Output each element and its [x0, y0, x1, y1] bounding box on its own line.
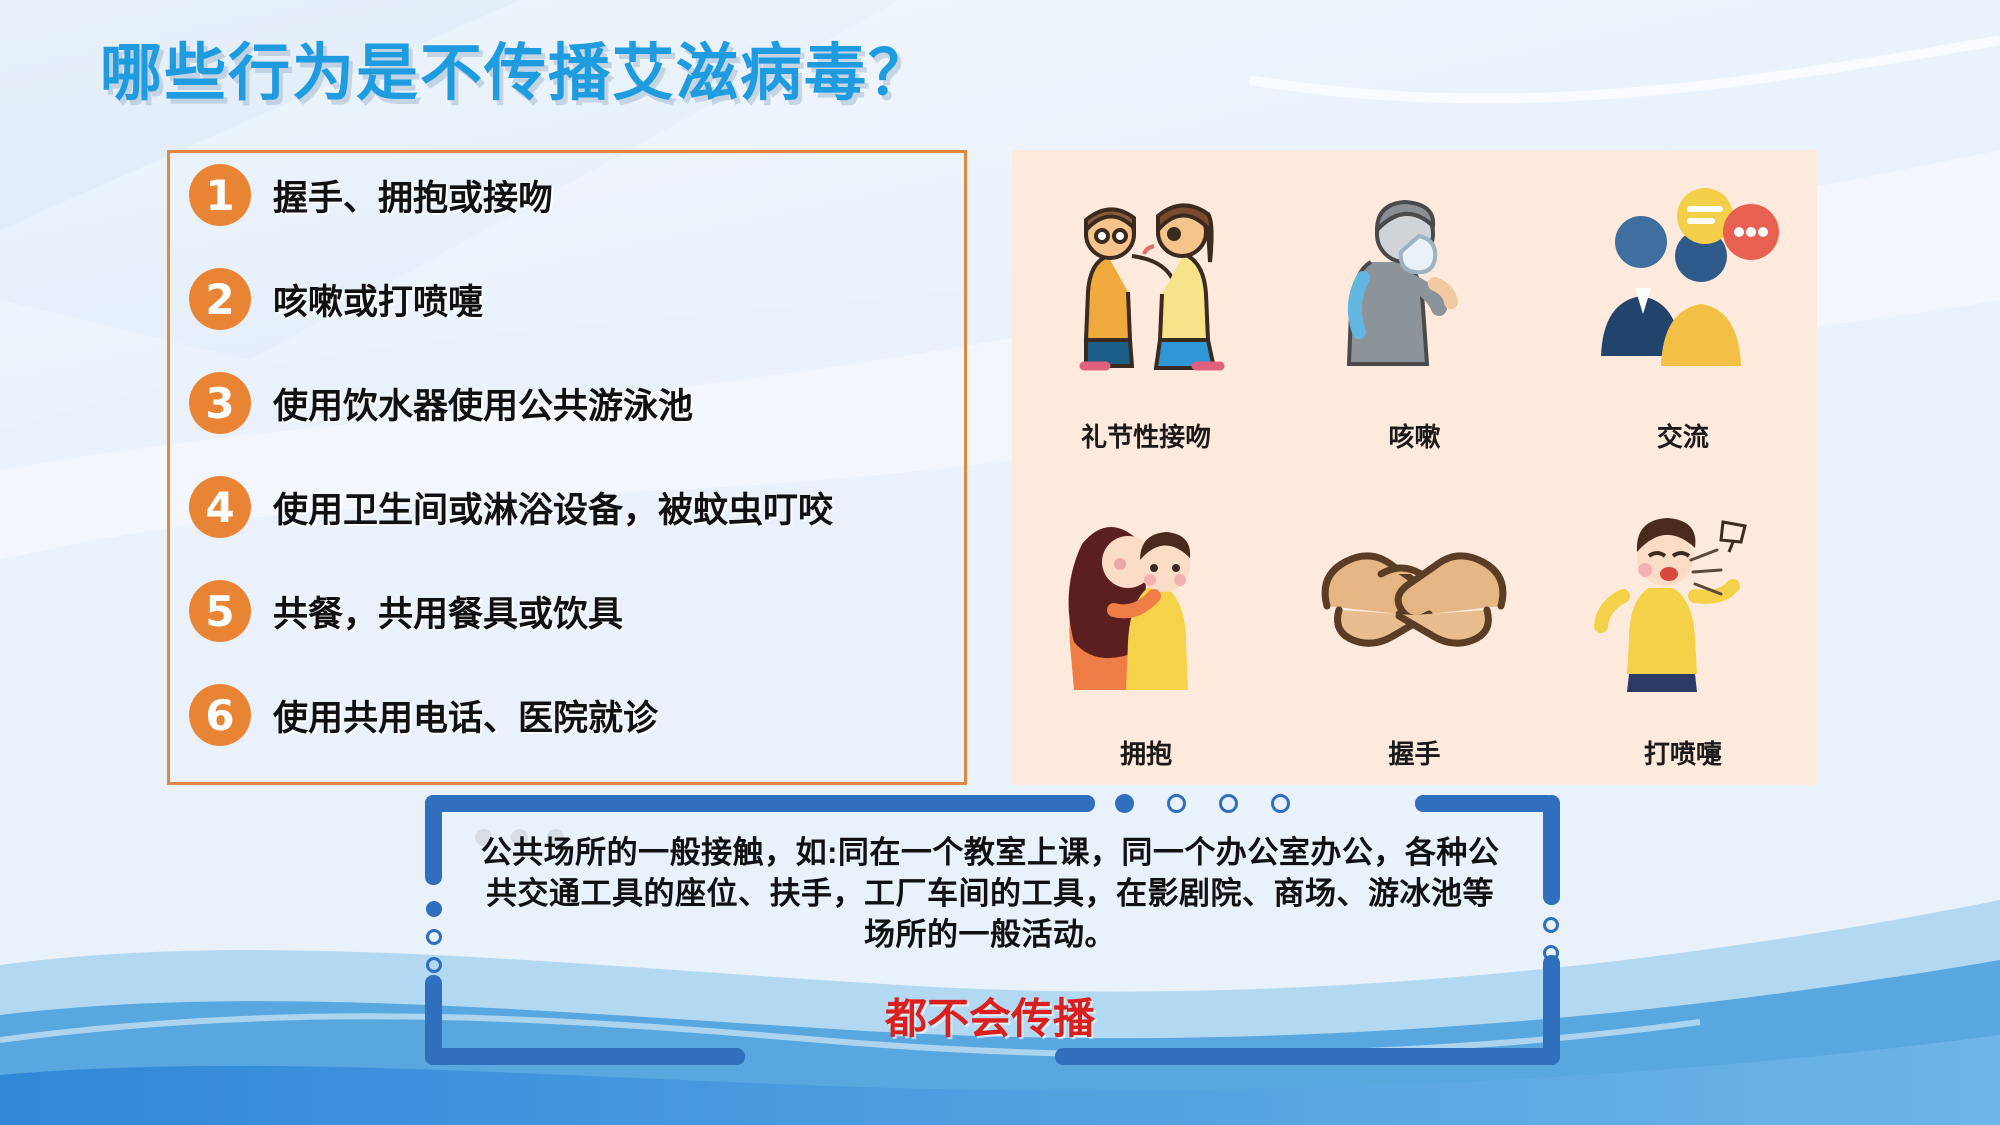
list-item-number: 2: [189, 268, 251, 330]
talking-people-icon: [1549, 150, 1817, 413]
bracket-right-upper: [1543, 795, 1560, 905]
list-item-label: 使用卫生间或淋浴设备，被蚊虫叮咬: [273, 482, 833, 533]
hugging-pair-icon: [1012, 468, 1280, 731]
list-item: 4 使用卫生间或淋浴设备，被蚊虫叮咬: [189, 476, 833, 538]
illustration-caption: 打喷嚏: [1644, 734, 1722, 771]
bracket-dot-outline: [1543, 945, 1559, 961]
callout-emphasis-text: 都不会传播: [475, 985, 1505, 1046]
bracket-dot-outline: [426, 985, 442, 1001]
list-item-label: 咳嗽或打喷嚏: [273, 274, 483, 325]
sneezing-person-icon: [1549, 468, 1817, 731]
list-item-number: 5: [189, 580, 251, 642]
bracket-dot-outline: [1543, 917, 1559, 933]
illustration-caption: 握手: [1388, 734, 1440, 771]
handshake-icon: [1280, 468, 1548, 731]
bracket-right-lower: [1543, 955, 1560, 1065]
behaviour-list: 1 握手、拥抱或接吻 2 咳嗽或打喷嚏 3 使用饮水器使用公共游泳池 4 使用卫…: [167, 150, 967, 785]
list-item-number: 6: [189, 684, 251, 746]
list-item: 6 使用共用电话、医院就诊: [189, 684, 658, 746]
bracket-dot-outline: [1167, 794, 1186, 813]
bracket-dot-outline: [426, 957, 442, 973]
slide-root: 哪些行为是不传播艾滋病毒？ 1 握手、拥抱或接吻 2 咳嗽或打喷嚏 3 使用饮水…: [0, 0, 2000, 1125]
bracket-bottom-right: [1055, 1048, 1555, 1065]
list-item-number: 4: [189, 476, 251, 538]
bracket-dot-filled: [1115, 794, 1134, 813]
list-item-label: 使用共用电话、医院就诊: [273, 690, 658, 741]
bracket-dot-outline: [1543, 973, 1559, 989]
bracket-dot-outline: [1219, 794, 1238, 813]
illustration-cell: 握手: [1280, 468, 1548, 786]
illustration-caption: 拥抱: [1120, 734, 1172, 771]
list-item: 2 咳嗽或打喷嚏: [189, 268, 483, 330]
bracket-dot-outline: [426, 929, 442, 945]
illustration-caption: 咳嗽: [1388, 417, 1440, 454]
bracket-top-left: [425, 795, 1095, 812]
callout-box: 公共场所的一般接触，如:同在一个教室上课，同一个办公室办公，各种公共交通工具的座…: [415, 795, 1560, 1065]
illustration-panel: 礼节性接吻: [1012, 150, 1817, 785]
coughing-person-icon: [1280, 150, 1548, 413]
list-item-number: 1: [189, 164, 251, 226]
kiss-couple-icon: [1012, 150, 1280, 413]
illustration-caption: 礼节性接吻: [1081, 417, 1211, 454]
list-item-label: 握手、拥抱或接吻: [273, 170, 553, 221]
illustration-caption: 交流: [1657, 417, 1709, 454]
list-item: 3 使用饮水器使用公共游泳池: [189, 372, 693, 434]
bracket-dot-outline: [1271, 794, 1290, 813]
illustration-cell: 礼节性接吻: [1012, 150, 1280, 468]
page-title: 哪些行为是不传播艾滋病毒？: [100, 22, 932, 112]
illustration-cell: 拥抱: [1012, 468, 1280, 786]
illustration-cell: 交流: [1549, 150, 1817, 468]
illustration-cell: 打喷嚏: [1549, 468, 1817, 786]
bracket-top-right: [1415, 795, 1555, 812]
callout-body-text: 公共场所的一般接触，如:同在一个教室上课，同一个办公室办公，各种公共交通工具的座…: [475, 833, 1505, 956]
illustration-cell: 咳嗽: [1280, 150, 1548, 468]
bracket-bottom-left: [425, 1048, 745, 1065]
list-item: 5 共餐，共用餐具或饮具: [189, 580, 623, 642]
bracket-left-upper: [425, 795, 442, 885]
list-item-label: 共餐，共用餐具或饮具: [273, 586, 623, 637]
list-item-number: 3: [189, 372, 251, 434]
list-item-label: 使用饮水器使用公共游泳池: [273, 378, 693, 429]
bracket-dot-filled: [426, 901, 442, 917]
list-item: 1 握手、拥抱或接吻: [189, 164, 553, 226]
